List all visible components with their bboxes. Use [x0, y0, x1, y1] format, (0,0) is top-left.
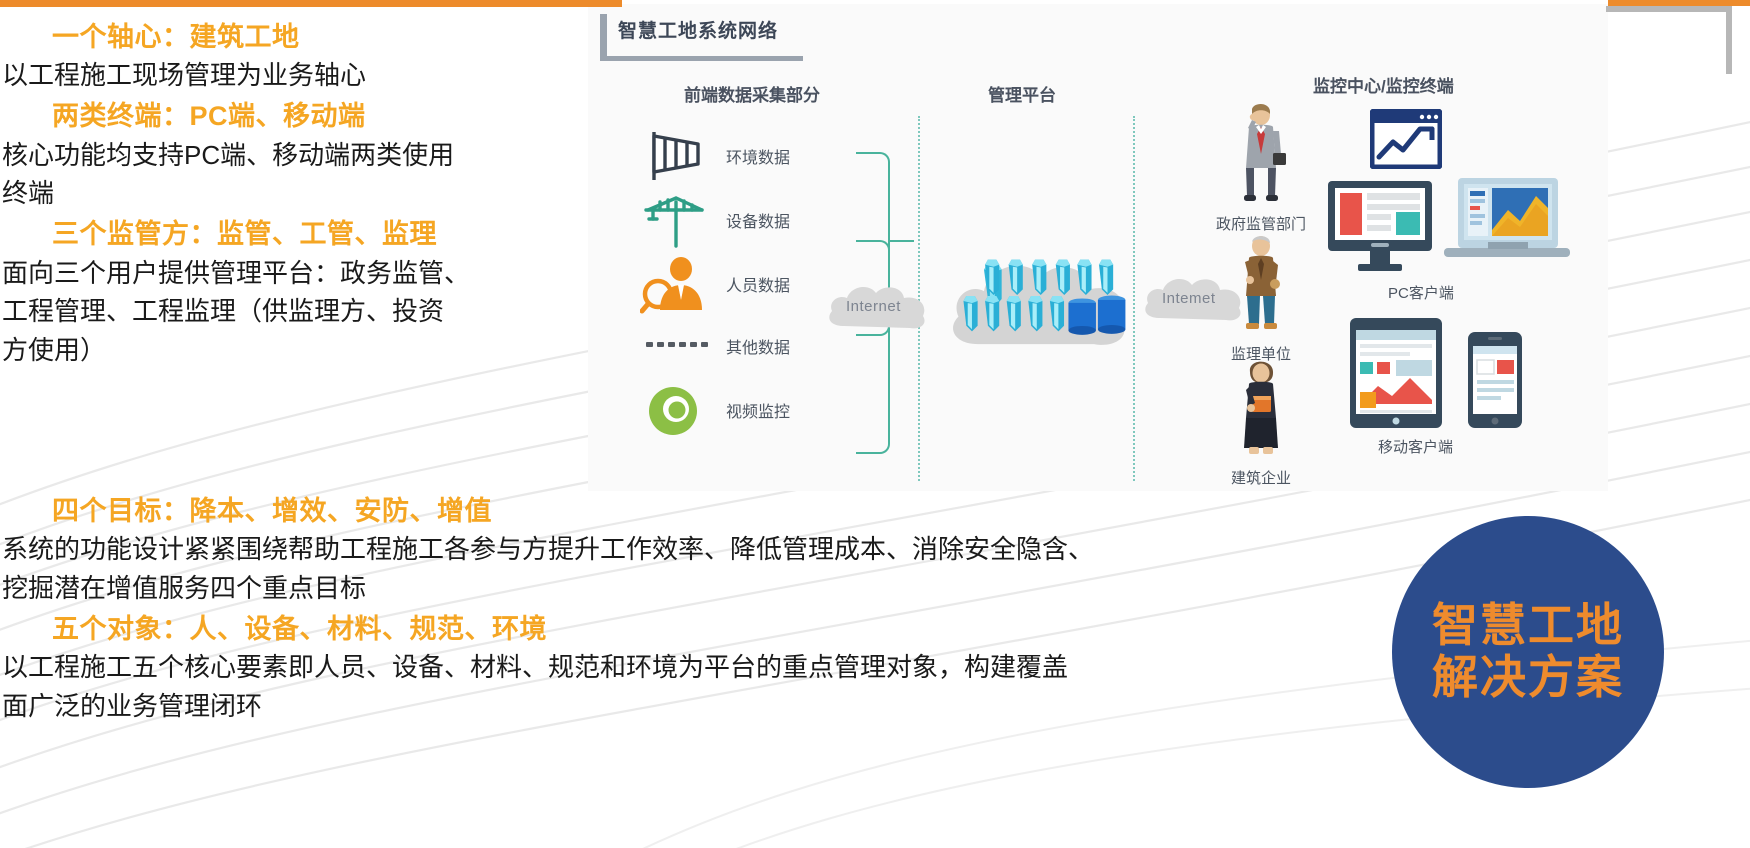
text-block-axis: 一个轴心：建筑工地 以工程施工现场管理为业务轴心 — [0, 18, 640, 94]
data-source-label: 设备数据 — [726, 208, 790, 232]
user-label: 政府监管部门 — [1206, 213, 1316, 234]
badge-line-1: 智慧工地 — [1432, 600, 1624, 652]
column-heading-platform: 管理平台 — [988, 81, 1056, 106]
camera-eye-icon — [640, 378, 712, 440]
block-body-line: 系统的功能设计紧紧围绕帮助工程施工各参与方提升工作效率、降低管理成本、消除安全隐… — [0, 532, 1322, 568]
block-body-line: 挖掘潜在增值服务四个重点目标 — [0, 571, 1322, 607]
block-body-line: 面向三个用户提供管理平台：政务监管、 — [0, 256, 640, 292]
text-block-goals: 四个目标：降本、增效、安防、增值 系统的功能设计紧紧围绕帮助工程施工各参与方提升… — [0, 492, 1330, 607]
user-label: 建筑企业 — [1206, 467, 1316, 488]
text-block-objects: 五个对象：人、设备、材料、规范、环境 以工程施工五个核心要素即人员、设备、材料、… — [0, 610, 1330, 725]
block-body-line: 以工程施工现场管理为业务轴心 — [0, 58, 640, 94]
block-body-line: 以工程施工五个核心要素即人员、设备、材料、规范和环境为平台的重点管理对象，构建覆… — [0, 650, 1322, 686]
data-source-label: 人员数据 — [726, 272, 790, 296]
block-body-line: 终端 — [0, 176, 640, 212]
bottom-text-column: 四个目标：降本、增效、安防、增值 系统的功能设计紧紧围绕帮助工程施工各参与方提升… — [0, 492, 1330, 728]
block-body-line: 工程管理、工程监理（供监理方、投资 — [0, 294, 640, 330]
user-supervisor: 监理单位 — [1206, 232, 1316, 364]
block-heading: 五个对象：人、设备、材料、规范、环境 — [0, 610, 1330, 648]
top-accent-bar-left — [0, 0, 622, 7]
internet-cloud-label-1: Internet — [846, 298, 901, 315]
terminal-label-mobile: 移动客户端 — [1378, 436, 1453, 457]
desktop-monitor-icon — [1326, 179, 1434, 273]
column-divider — [1133, 116, 1135, 481]
block-heading: 三个监管方：监管、工管、监理 — [0, 215, 640, 253]
block-body-line: 面广泛的业务管理闭环 — [0, 689, 1322, 725]
corner-bracket-decoration — [1606, 6, 1732, 74]
windsock-icon — [640, 124, 712, 186]
user-government: 政府监管部门 — [1206, 102, 1316, 234]
top-accent-bar-right — [1608, 0, 1750, 6]
block-body-line: 核心功能均支持PC端、移动端两类使用 — [0, 138, 640, 174]
system-network-diagram: 智慧工地系统网络 前端数据采集部分 管理平台 监控中心/监控终端 环境数据 — [588, 4, 1608, 491]
column-heading-frontend: 前端数据采集部分 — [684, 81, 820, 106]
personnel-inspect-icon — [640, 252, 712, 314]
data-source-row: 视频监控 — [630, 378, 860, 442]
text-block-regulators: 三个监管方：监管、工管、监理 面向三个用户提供管理平台：政务监管、 工程管理、工… — [0, 215, 640, 369]
block-body-line: 方使用） — [0, 333, 640, 369]
left-text-column: 一个轴心：建筑工地 以工程施工现场管理为业务轴心 两类终端：PC端、移动端 核心… — [0, 18, 640, 372]
government-officer-icon — [1232, 102, 1290, 206]
block-heading: 四个目标：降本、增效、安防、增值 — [0, 492, 1330, 530]
data-source-row: 设备数据 — [630, 188, 860, 252]
supervisor-person-icon — [1232, 232, 1290, 336]
smartphone-icon — [1466, 330, 1524, 430]
user-enterprise: 建筑企业 — [1206, 356, 1316, 488]
badge-line-2: 解决方案 — [1432, 652, 1624, 704]
enterprise-person-icon — [1232, 356, 1290, 460]
connector-bus-lower — [856, 240, 890, 454]
terminal-label-pc: PC客户端 — [1388, 282, 1454, 303]
chart-window-icon — [1370, 109, 1442, 169]
block-heading: 一个轴心：建筑工地 — [0, 18, 640, 56]
crane-icon — [640, 188, 712, 250]
data-source-label: 其他数据 — [726, 334, 790, 358]
data-source-label: 视频监控 — [726, 398, 790, 422]
data-source-row: 环境数据 — [630, 124, 860, 188]
tablet-icon — [1348, 316, 1444, 430]
column-heading-monitor: 监控中心/监控终端 — [1313, 72, 1454, 97]
connector-stub — [888, 240, 914, 242]
cloud-datacenter-icon — [943, 242, 1133, 352]
database-cylinder-icon — [1098, 296, 1126, 334]
database-cylinder-icon — [1068, 298, 1096, 334]
ellipsis-dots-icon — [640, 314, 712, 376]
text-block-terminals: 两类终端：PC端、移动端 核心功能均支持PC端、移动端两类使用 终端 — [0, 97, 640, 212]
data-source-label: 环境数据 — [726, 144, 790, 168]
diagram-title: 智慧工地系统网络 — [618, 16, 778, 43]
solution-badge: 智慧工地 解决方案 — [1392, 516, 1664, 788]
laptop-icon — [1440, 174, 1574, 274]
block-heading: 两类终端：PC端、移动端 — [0, 97, 640, 135]
